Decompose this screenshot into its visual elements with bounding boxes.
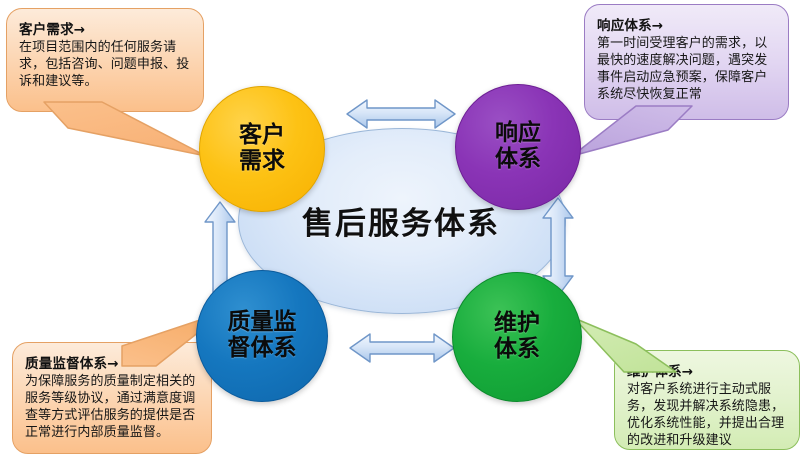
callout-response-system: 响应体系→ 第一时间受理客户的需求，以最快的速度解决问题，遇突发事件启动应急预案… [578,4,794,138]
node-maintenance-system[interactable]: 维护 体系 [452,272,582,402]
node-response-system-line-2: 体系 [495,147,541,173]
callout-customer-demand-body: 在项目范围内的任何服务请求，包括咨询、问题申报、投诉和建议等。 [19,39,192,90]
node-customer-demand-line-2: 需求 [239,149,285,175]
node-response-system-line-1: 响应 [495,121,541,147]
node-quality-supervision-system[interactable]: 质量监 督体系 [196,270,328,402]
callout-quality-supervision-body: 为保障服务的质量制定相关的服务等级协议，通过满意度调查等方式评估服务的提供是否正… [25,373,200,442]
top-arrow [345,96,457,132]
callout-customer-demand-tail [42,100,212,162]
node-customer-demand-line-1: 客户 [239,123,285,149]
bottom-arrow [348,330,456,366]
callout-customer-demand-bubble: 客户需求→ 在项目范围内的任何服务请求，包括咨询、问题申报、投诉和建议等。 [6,8,204,112]
node-maintenance-system-line-2: 体系 [494,337,540,363]
callout-maintenance-system-body: 对客户系统进行主动式服务，发现并解决系统隐患，优化系统性能，并提出合理的改进和升… [627,381,788,450]
node-quality-supervision-line-1: 质量监 [228,310,297,336]
callout-maintenance-system-tail [572,314,682,376]
node-customer-demand[interactable]: 客户 需求 [199,86,325,212]
callout-maintenance-system: 维护体系→ 对客户系统进行主动式服务，发现并解决系统隐患，优化系统性能，并提出合… [600,336,800,458]
callout-response-system-tail [566,104,696,162]
node-maintenance-system-line-1: 维护 [494,311,540,337]
node-response-system[interactable]: 响应 体系 [455,84,581,210]
callout-response-system-body: 第一时间受理客户的需求，以最快的速度解决问题，遇突发事件启动应急预案，保障客户系… [597,35,777,104]
callout-customer-demand: 客户需求→ 在项目范围内的任何服务请求，包括咨询、问题申报、投诉和建议等。 [6,8,216,128]
callout-response-system-bubble: 响应体系→ 第一时间受理客户的需求，以最快的速度解决问题，遇突发事件启动应急预案… [584,4,789,120]
callout-quality-supervision: 质量监督体系→ 为保障服务的质量制定相关的服务等级协议，通过满意度调查等方式评估… [6,330,216,458]
callout-customer-demand-title: 客户需求→ [19,18,192,38]
diagram-canvas: 售后服务体系 客户 需求 响应 体系 质量监 督体系 维护 体系 [0,0,800,461]
node-quality-supervision-line-2: 督体系 [228,336,297,362]
callout-response-system-title: 响应体系→ [597,14,777,34]
